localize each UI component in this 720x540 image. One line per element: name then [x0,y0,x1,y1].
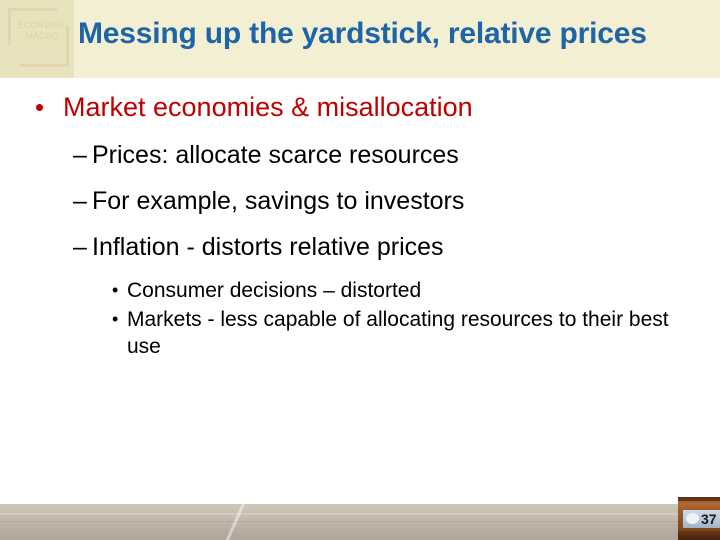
slide-body: •Market economies & misallocation–Prices… [0,78,720,504]
badge-top-rail [678,497,720,501]
band-diagonal-streak [222,504,251,540]
slide-header-band: ECON1050: MACRO Messing up the yardstick… [0,0,720,78]
bullet-text: Markets - less capable of allocating res… [127,306,697,360]
footer-photo-band [0,504,720,540]
bullet-text: Prices: allocate scarce resources [92,139,673,171]
badge-bottom-rail [678,531,720,540]
slide-number-text: 37 [701,511,717,528]
bullet-text: Market economies & misallocation [63,90,675,124]
slide-title: Messing up the yardstick, relative price… [78,14,716,54]
badge-plate: 37 [683,510,720,528]
logo-line-2: MACRO [12,31,72,42]
logo-line-1: ECON1050: [18,20,67,30]
bullet-dot-icon: • [112,277,118,304]
bullet-text: For example, savings to investors [92,185,673,217]
presentation-slide: ECON1050: MACRO Messing up the yardstick… [0,0,720,540]
logo-text: ECON1050: MACRO [12,20,72,42]
bullet-dash-icon: – [73,185,87,217]
band-highlight-line [0,513,720,515]
bullet-dot-icon: • [35,90,44,124]
band-shadow-line [0,521,720,522]
badge-dot-icon [686,513,699,524]
bullet-text: Consumer decisions – distorted [127,277,697,304]
bullet-text: Inflation - distorts relative prices [92,231,673,263]
course-logo: ECON1050: MACRO [0,0,74,78]
bullet-dash-icon: – [73,139,87,171]
slide-number-badge: 37 [678,497,720,540]
bullet-dash-icon: – [73,231,87,263]
bullet-dot-icon: • [112,306,118,333]
